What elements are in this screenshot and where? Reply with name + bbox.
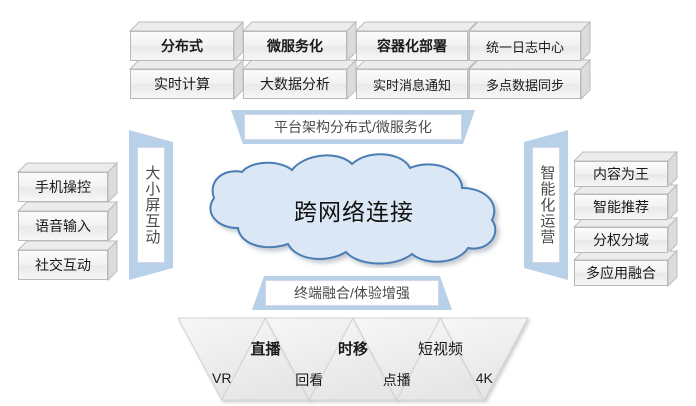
cube-label: 分权分域: [593, 230, 649, 250]
cloud-title: 跨网络连接: [196, 152, 512, 268]
cube-front-face: 内容为王: [574, 161, 668, 187]
cube-front-face: 分权分域: [574, 227, 668, 253]
cube-label: 社交互动: [35, 255, 91, 275]
triangle-row-graphic: [178, 316, 534, 406]
top-grid-cell-secondary-4: 多点数据同步: [469, 60, 581, 90]
cube-front-face: 手机操控: [18, 172, 108, 202]
cube-front-face: 语音输入: [18, 211, 108, 241]
right-banner-label: 智能化运营: [538, 165, 555, 245]
cube-label: 统一日志中心: [486, 37, 564, 56]
cube-front-face: 多点数据同步: [469, 69, 581, 99]
cube-label: 分布式: [161, 36, 203, 56]
cube-front-face: 实时计算: [130, 69, 234, 99]
cube-label: 智能推荐: [593, 197, 649, 217]
cube-label: 大数据分析: [260, 74, 330, 94]
cube-label: 内容为王: [593, 164, 649, 184]
cube-label: 微服务化: [267, 36, 323, 56]
right-banner-box: 智能化运营: [532, 147, 560, 263]
top-grid-cell-secondary-2: 大数据分析: [243, 60, 347, 90]
triangle-label-5: 点播: [362, 370, 432, 390]
top-grid-cell-primary-1: 分布式: [130, 22, 234, 52]
left-banner-label: 大小屏互动: [143, 165, 160, 245]
left-item-2: 语音输入: [18, 202, 108, 232]
top-grid-cell-secondary-3: 实时消息通知: [356, 60, 468, 90]
bottom-triangle-row: VR直播回看时移点播短视频4K: [178, 316, 528, 400]
right-item-2: 智能推荐: [574, 185, 668, 211]
triangle-label-4: 时移: [318, 338, 388, 359]
cube-front-face: 微服务化: [243, 31, 347, 61]
right-item-1: 内容为王: [574, 152, 668, 178]
bottom-banner: 终端融合/体验增强: [252, 276, 452, 310]
cube-label: 语音输入: [35, 216, 91, 236]
cloud-shape: 跨网络连接: [196, 152, 512, 268]
top-banner-label: 平台架构分布式/微服务化: [244, 114, 462, 140]
cube-label: 实时消息通知: [373, 75, 451, 94]
cube-label: 容器化部署: [377, 36, 447, 56]
diagram-canvas: 分布式实时计算微服务化大数据分析容器化部署实时消息通知统一日志中心多点数据同步 …: [0, 0, 696, 406]
right-item-3: 分权分域: [574, 218, 668, 244]
cube-label: 实时计算: [154, 74, 210, 94]
top-grid-cell-primary-3: 容器化部署: [356, 22, 468, 52]
triangle-label-1: VR: [187, 370, 257, 386]
left-banner: 大小屏互动: [129, 130, 173, 280]
left-item-1: 手机操控: [18, 163, 108, 193]
cube-front-face: 容器化部署: [356, 31, 468, 61]
cube-front-face: 多应用融合: [574, 260, 668, 286]
cube-front-face: 智能推荐: [574, 194, 668, 220]
left-banner-box: 大小屏互动: [137, 147, 165, 263]
triangle-label-6: 短视频: [406, 338, 476, 359]
cube-label: 手机操控: [35, 177, 91, 197]
cube-front-face: 社交互动: [18, 250, 108, 280]
bottom-banner-label: 终端融合/体验增强: [265, 280, 439, 306]
cube-label: 多应用融合: [586, 263, 656, 283]
top-grid-cell-secondary-1: 实时计算: [130, 60, 234, 90]
triangle-label-7: 4K: [449, 370, 519, 386]
top-grid-cell-primary-2: 微服务化: [243, 22, 347, 52]
cube-label: 多点数据同步: [486, 75, 564, 94]
cube-front-face: 实时消息通知: [356, 69, 468, 99]
top-banner: 平台架构分布式/微服务化: [231, 110, 475, 144]
cube-front-face: 统一日志中心: [469, 31, 581, 61]
right-item-4: 多应用融合: [574, 251, 668, 277]
right-banner: 智能化运营: [524, 130, 568, 280]
triangle-label-3: 回看: [274, 370, 344, 390]
top-grid-cell-primary-4: 统一日志中心: [469, 22, 581, 52]
triangle-label-2: 直播: [231, 338, 301, 359]
left-item-3: 社交互动: [18, 241, 108, 271]
cube-front-face: 分布式: [130, 31, 234, 61]
cube-front-face: 大数据分析: [243, 69, 347, 99]
